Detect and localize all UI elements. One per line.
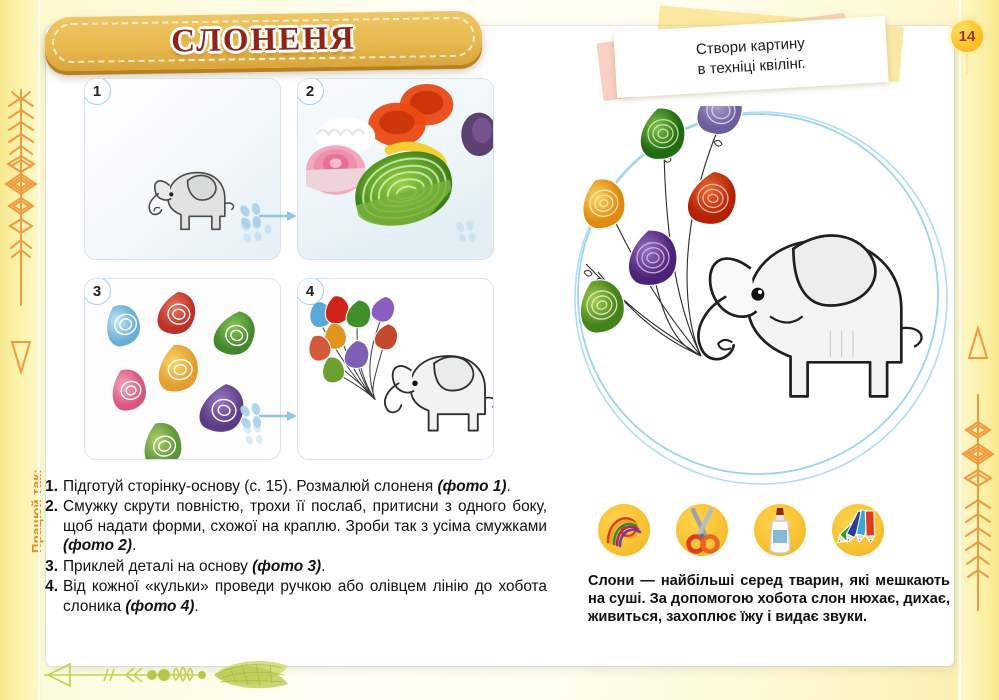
step-text: Смужку скрути повністю, трохи її послаб,… xyxy=(63,497,547,555)
step-photo-4: 4 xyxy=(297,278,494,460)
photo-ref: (фото 4) xyxy=(125,598,194,615)
elephant-sketch-art xyxy=(85,79,280,259)
photo-ref: (фото 2) xyxy=(63,537,132,554)
step-photo-3: 3 xyxy=(84,278,281,460)
quilling-coils-photo-art xyxy=(298,79,493,259)
title-banner: СЛОНЕНЯ xyxy=(45,11,483,72)
page-number-stem xyxy=(966,50,968,74)
step-text: Підготуй сторінку-основу (с. 15). Розмал… xyxy=(63,477,547,496)
glue-icon xyxy=(752,502,808,558)
folk-ornament-left xyxy=(0,80,42,400)
page-title: СЛОНЕНЯ xyxy=(45,11,483,72)
folk-ornament-right xyxy=(957,300,999,620)
step-number: 2. xyxy=(42,497,63,555)
step-photo-2: 2 xyxy=(297,78,494,260)
fact-text: Слони — найбільші серед тварин, які мешк… xyxy=(588,572,950,626)
arrow-connector-3-to-4 xyxy=(237,403,301,429)
materials-icon-row xyxy=(596,502,946,558)
step-text: Від кожної «кульки» проведи ручкою або о… xyxy=(63,577,547,616)
step-photo-1: 1 xyxy=(84,78,281,260)
step-body: Смужку скрути повністю, трохи її послаб,… xyxy=(63,498,547,534)
instruction-steps: 1. Підготуй сторінку-основу (с. 15). Роз… xyxy=(42,477,547,617)
right-edge-rule xyxy=(959,0,961,700)
page-number-badge: 14 xyxy=(951,20,983,52)
step-number: 1. xyxy=(42,477,63,496)
note-line-2: в техніці квілінг. xyxy=(697,55,806,78)
task-note: Створи картину в техніці квілінг. xyxy=(605,18,905,98)
bottom-leaf-ornament xyxy=(30,658,450,692)
photo-ref: (фото 1) xyxy=(438,478,507,495)
arrow-connector-1-to-2 xyxy=(237,203,301,229)
photo-ref: (фото 3) xyxy=(252,558,321,575)
finished-craft-art xyxy=(298,279,493,459)
hero-illustration xyxy=(566,106,956,488)
step-text: Приклей деталі на основу (фото 3). xyxy=(63,557,547,576)
step-body: Приклей деталі на основу xyxy=(63,558,252,575)
step-item: 3. Приклей деталі на основу (фото 3). xyxy=(42,557,547,576)
left-edge-rule xyxy=(38,0,40,700)
quilled-teardrops-art xyxy=(85,279,280,459)
scissors-icon xyxy=(674,502,730,558)
step-item: 2. Смужку скрути повністю, трохи її посл… xyxy=(42,497,547,555)
paper-strips-icon xyxy=(596,502,652,558)
workbook-page: Працюй так: xyxy=(0,0,999,700)
note-text: Створи картину в техніці квілінг. xyxy=(685,33,816,81)
step-item: 1. Підготуй сторінку-основу (с. 15). Роз… xyxy=(42,477,547,496)
colored-pencils-icon xyxy=(830,502,886,558)
step-number: 3. xyxy=(42,557,63,576)
step-photo-grid: 1 xyxy=(84,78,494,460)
note-card: Створи картину в техніці квілінг. xyxy=(613,16,888,98)
step-item: 4. Від кожної «кульки» проведи ручкою аб… xyxy=(42,577,547,616)
step-number: 4. xyxy=(42,577,63,616)
right-ornament-band xyxy=(957,0,999,700)
left-ornament-band: Працюй так: xyxy=(0,0,42,700)
